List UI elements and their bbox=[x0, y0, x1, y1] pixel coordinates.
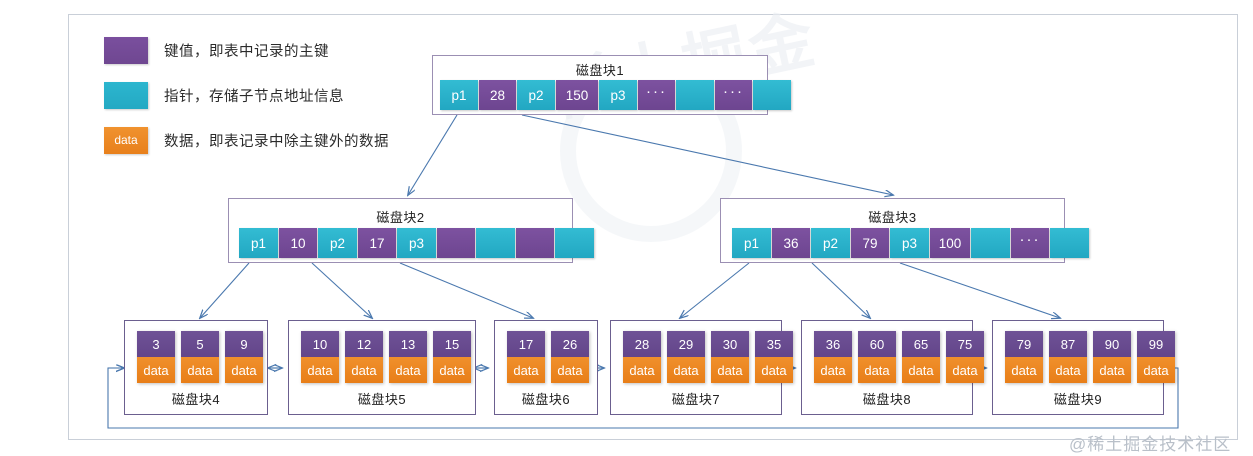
cell-key-36[interactable]: 36 bbox=[772, 228, 810, 258]
leaf-data: data bbox=[711, 357, 749, 383]
leaf-entry[interactable]: 5 data bbox=[181, 331, 219, 383]
leaf-block-7-title: 磁盘块7 bbox=[611, 389, 781, 408]
leaf-data: data bbox=[858, 357, 896, 383]
leaf-key: 60 bbox=[858, 331, 896, 357]
leaf-key: 36 bbox=[814, 331, 852, 357]
data-swatch-icon: data bbox=[104, 127, 148, 154]
cell-key-ellipsis-1[interactable]: ··· bbox=[638, 80, 675, 110]
leaf-block-5-title: 磁盘块5 bbox=[289, 389, 475, 408]
cell-pointer-empty-1[interactable] bbox=[971, 228, 1010, 258]
leaf-entry[interactable]: 26 data bbox=[551, 331, 589, 383]
legend-item-pointer: 指针，存储子节点地址信息 bbox=[104, 79, 389, 111]
leaf-block-6-cells: 17 data 26 data bbox=[507, 331, 595, 383]
leaf-data: data bbox=[433, 357, 471, 383]
legend-label-key: 键值，即表中记录的主键 bbox=[164, 40, 329, 61]
cell-pointer-p2[interactable]: p2 bbox=[811, 228, 850, 258]
cell-pointer-p1[interactable]: p1 bbox=[239, 228, 278, 258]
leaf-data: data bbox=[946, 357, 984, 383]
leaf-entry[interactable]: 15 data bbox=[433, 331, 471, 383]
leaf-key: 87 bbox=[1049, 331, 1087, 357]
leaf-data: data bbox=[623, 357, 661, 383]
leaf-entry[interactable]: 12 data bbox=[345, 331, 383, 383]
cell-key-10[interactable]: 10 bbox=[279, 228, 317, 258]
leaf-key: 30 bbox=[711, 331, 749, 357]
leaf-entry[interactable]: 60 data bbox=[858, 331, 896, 383]
cell-pointer-p3[interactable]: p3 bbox=[599, 80, 637, 110]
leaf-block-7[interactable]: 28 data 29 data 30 data 35 data 磁盘块7 bbox=[610, 320, 782, 415]
leaf-key: 10 bbox=[301, 331, 339, 357]
leaf-key: 15 bbox=[433, 331, 471, 357]
leaf-key: 17 bbox=[507, 331, 545, 357]
leaf-key: 29 bbox=[667, 331, 705, 357]
cell-pointer-p2[interactable]: p2 bbox=[517, 80, 555, 110]
diagram-canvas: 稀土掘金 @稀土掘金技术社区 键值，即表中记录的主键 指针，存储子节点地址信息 … bbox=[0, 0, 1253, 456]
leaf-entry[interactable]: 28 data bbox=[623, 331, 661, 383]
leaf-entry[interactable]: 29 data bbox=[667, 331, 705, 383]
key-swatch-icon bbox=[104, 37, 148, 64]
leaf-block-5-cells: 10 data 12 data 13 data 15 data bbox=[301, 331, 477, 383]
leaf-block-6-title: 磁盘块6 bbox=[495, 389, 597, 408]
leaf-block-4-title: 磁盘块4 bbox=[125, 389, 267, 408]
leaf-entry[interactable]: 30 data bbox=[711, 331, 749, 383]
leaf-block-7-cells: 28 data 29 data 30 data 35 data bbox=[623, 331, 799, 383]
pointer-swatch-icon bbox=[104, 82, 148, 109]
leaf-entry[interactable]: 65 data bbox=[902, 331, 940, 383]
leaf-block-8-title: 磁盘块8 bbox=[802, 389, 972, 408]
leaf-data: data bbox=[902, 357, 940, 383]
index-block-1-title: 磁盘块1 bbox=[433, 60, 767, 79]
cell-pointer-empty-1[interactable] bbox=[476, 228, 515, 258]
leaf-entry[interactable]: 87 data bbox=[1049, 331, 1087, 383]
leaf-key: 5 bbox=[181, 331, 219, 357]
cell-key-empty-2[interactable] bbox=[516, 228, 554, 258]
leaf-entry[interactable]: 10 data bbox=[301, 331, 339, 383]
cell-key-100[interactable]: 100 bbox=[930, 228, 970, 258]
cell-pointer-p1[interactable]: p1 bbox=[440, 80, 478, 110]
cell-pointer-empty-2[interactable] bbox=[753, 80, 791, 110]
leaf-key: 3 bbox=[137, 331, 175, 357]
leaf-entry[interactable]: 17 data bbox=[507, 331, 545, 383]
cell-pointer-empty-2[interactable] bbox=[555, 228, 594, 258]
leaf-entry[interactable]: 79 data bbox=[1005, 331, 1043, 383]
index-block-3-cells: p1 36 p2 79 p3 100 ··· bbox=[732, 228, 1090, 258]
legend: 键值，即表中记录的主键 指针，存储子节点地址信息 data 数据，即表记录中除主… bbox=[104, 34, 389, 169]
index-block-2-cells: p1 10 p2 17 p3 bbox=[239, 228, 595, 258]
leaf-entry[interactable]: 13 data bbox=[389, 331, 427, 383]
legend-label-pointer: 指针，存储子节点地址信息 bbox=[164, 85, 344, 106]
leaf-data: data bbox=[507, 357, 545, 383]
leaf-data: data bbox=[755, 357, 793, 383]
legend-item-data: data 数据，即表记录中除主键外的数据 bbox=[104, 124, 389, 156]
cell-key-79[interactable]: 79 bbox=[851, 228, 889, 258]
leaf-data: data bbox=[814, 357, 852, 383]
legend-label-data: 数据，即表记录中除主键外的数据 bbox=[164, 130, 389, 151]
cell-pointer-empty-1[interactable] bbox=[676, 80, 714, 110]
cell-key-empty-1[interactable] bbox=[437, 228, 475, 258]
index-block-2-title: 磁盘块2 bbox=[229, 207, 572, 226]
leaf-data: data bbox=[1093, 357, 1131, 383]
cell-pointer-p3[interactable]: p3 bbox=[397, 228, 436, 258]
cell-pointer-empty-2[interactable] bbox=[1050, 228, 1089, 258]
leaf-block-9[interactable]: 79 data 87 data 90 data 99 data 磁盘块9 bbox=[992, 320, 1164, 415]
leaf-data: data bbox=[389, 357, 427, 383]
cell-key-150[interactable]: 150 bbox=[556, 80, 598, 110]
leaf-block-8[interactable]: 36 data 60 data 65 data 75 data 磁盘块8 bbox=[801, 320, 973, 415]
leaf-block-6[interactable]: 17 data 26 data 磁盘块6 bbox=[494, 320, 598, 415]
leaf-entry[interactable]: 99 data bbox=[1137, 331, 1175, 383]
leaf-block-4-cells: 3 data 5 data 9 data bbox=[137, 331, 269, 383]
leaf-block-9-title: 磁盘块9 bbox=[993, 389, 1163, 408]
cell-key-17[interactable]: 17 bbox=[358, 228, 396, 258]
leaf-block-8-cells: 36 data 60 data 65 data 75 data bbox=[814, 331, 990, 383]
leaf-entry[interactable]: 3 data bbox=[137, 331, 175, 383]
leaf-data: data bbox=[1137, 357, 1175, 383]
leaf-block-4[interactable]: 3 data 5 data 9 data 磁盘块4 bbox=[124, 320, 268, 415]
leaf-key: 65 bbox=[902, 331, 940, 357]
leaf-key: 26 bbox=[551, 331, 589, 357]
index-block-1-cells: p1 28 p2 150 p3 ··· ··· bbox=[440, 80, 792, 110]
leaf-entry[interactable]: 36 data bbox=[814, 331, 852, 383]
index-block-1[interactable]: 磁盘块1 p1 28 p2 150 p3 ··· ··· bbox=[432, 55, 768, 115]
leaf-key: 90 bbox=[1093, 331, 1131, 357]
leaf-data: data bbox=[551, 357, 589, 383]
leaf-data: data bbox=[667, 357, 705, 383]
leaf-data: data bbox=[345, 357, 383, 383]
leaf-data: data bbox=[137, 357, 175, 383]
index-block-3[interactable]: 磁盘块3 p1 36 p2 79 p3 100 ··· bbox=[720, 198, 1065, 263]
cell-pointer-p3[interactable]: p3 bbox=[890, 228, 929, 258]
legend-item-key: 键值，即表中记录的主键 bbox=[104, 34, 389, 66]
leaf-block-5[interactable]: 10 data 12 data 13 data 15 data 磁盘块5 bbox=[288, 320, 476, 415]
leaf-entry[interactable]: 9 data bbox=[225, 331, 263, 383]
leaf-data: data bbox=[1005, 357, 1043, 383]
leaf-key: 99 bbox=[1137, 331, 1175, 357]
leaf-entry[interactable]: 90 data bbox=[1093, 331, 1131, 383]
leaf-entry[interactable]: 35 data bbox=[755, 331, 793, 383]
leaf-key: 13 bbox=[389, 331, 427, 357]
leaf-key: 12 bbox=[345, 331, 383, 357]
cell-key-28[interactable]: 28 bbox=[479, 80, 516, 110]
index-block-2[interactable]: 磁盘块2 p1 10 p2 17 p3 bbox=[228, 198, 573, 263]
leaf-key: 28 bbox=[623, 331, 661, 357]
leaf-data: data bbox=[301, 357, 339, 383]
leaf-data: data bbox=[225, 357, 263, 383]
leaf-entry[interactable]: 75 data bbox=[946, 331, 984, 383]
leaf-block-9-cells: 79 data 87 data 90 data 99 data bbox=[1005, 331, 1181, 383]
leaf-data: data bbox=[181, 357, 219, 383]
index-block-3-title: 磁盘块3 bbox=[721, 207, 1064, 226]
cell-key-ellipsis-1[interactable]: ··· bbox=[1011, 228, 1049, 258]
leaf-key: 35 bbox=[755, 331, 793, 357]
leaf-key: 79 bbox=[1005, 331, 1043, 357]
cell-key-ellipsis-2[interactable]: ··· bbox=[715, 80, 752, 110]
watermark-bottom-right: @稀土掘金技术社区 bbox=[1069, 430, 1231, 455]
cell-pointer-p2[interactable]: p2 bbox=[318, 228, 357, 258]
leaf-key: 75 bbox=[946, 331, 984, 357]
cell-pointer-p1[interactable]: p1 bbox=[732, 228, 771, 258]
leaf-key: 9 bbox=[225, 331, 263, 357]
leaf-data: data bbox=[1049, 357, 1087, 383]
